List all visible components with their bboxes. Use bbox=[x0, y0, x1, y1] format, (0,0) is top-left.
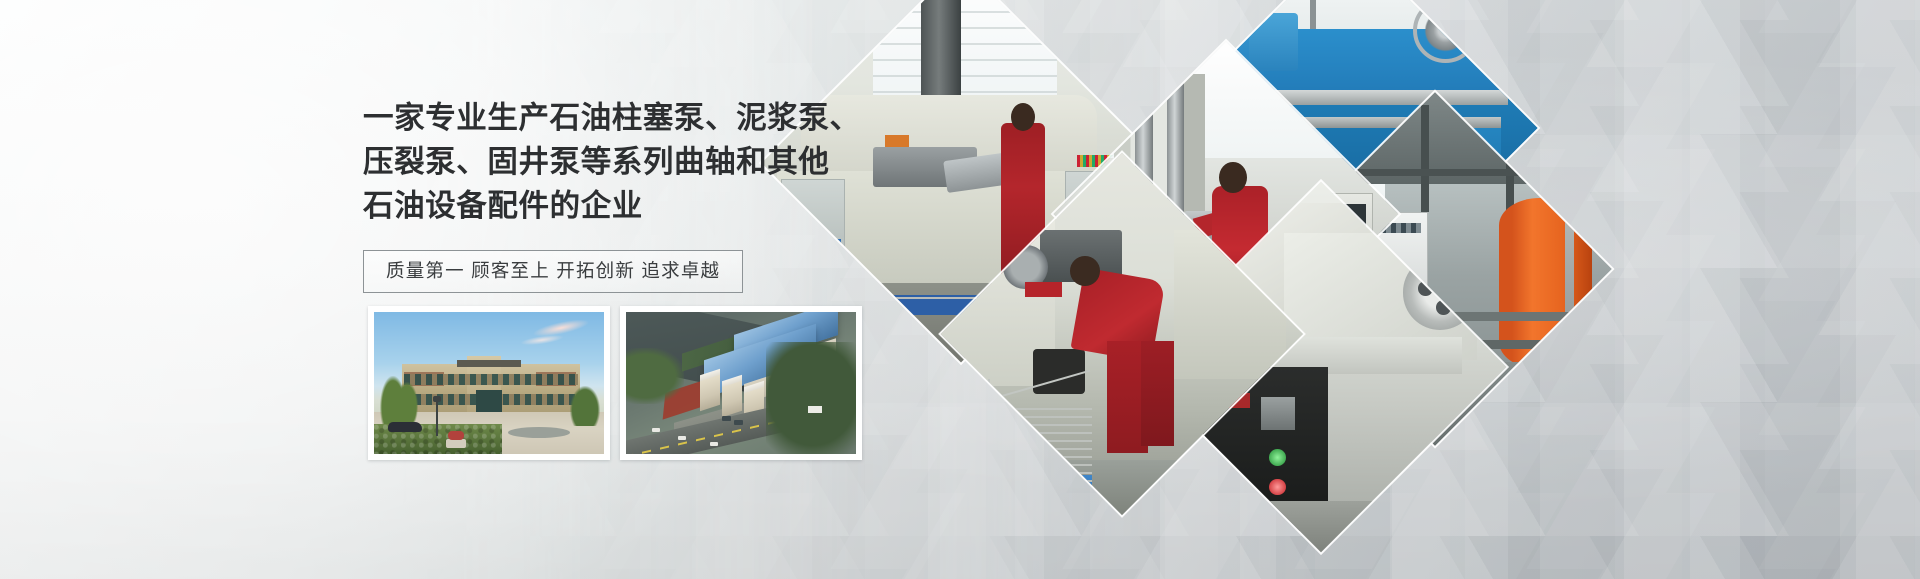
flower-bed bbox=[448, 431, 464, 440]
stair-handrail-post bbox=[988, 379, 990, 476]
tank-support-rod bbox=[1565, 191, 1574, 376]
worker-head bbox=[1219, 162, 1247, 194]
banner-headline: 一家专业生产石油柱塞泵、泥浆泵、 压裂泵、固井泵等系列曲轴和其他 石油设备配件的… bbox=[363, 96, 883, 228]
indicator-light-red bbox=[1269, 479, 1286, 496]
workshop-floor bbox=[1136, 501, 1507, 552]
greenery-left bbox=[626, 348, 684, 404]
yard-car-1 bbox=[722, 416, 731, 421]
building-entrance bbox=[476, 390, 502, 414]
tree-left-2 bbox=[396, 382, 418, 422]
diamond-photo-collage bbox=[842, 36, 1582, 506]
greenery-right bbox=[766, 342, 856, 454]
road-car-2 bbox=[678, 436, 686, 440]
tree-right bbox=[570, 386, 600, 426]
safety-rail bbox=[817, 297, 977, 299]
blue-chip-bin bbox=[988, 475, 1092, 515]
office-building-photo[interactable] bbox=[368, 306, 610, 460]
yard-truck bbox=[808, 406, 822, 413]
banner-copy-block: 一家专业生产石油柱塞泵、泥浆泵、 压裂泵、固井泵等系列曲轴和其他 石油设备配件的… bbox=[363, 96, 883, 293]
hero-banner: 一家专业生产石油柱塞泵、泥浆泵、 压裂泵、固井泵等系列曲轴和其他 石油设备配件的… bbox=[0, 0, 1920, 579]
headline-line-3: 石油设备配件的企业 bbox=[363, 184, 883, 228]
photo-thumbnail-row bbox=[368, 306, 862, 460]
office-block-1 bbox=[700, 375, 720, 411]
parked-car bbox=[388, 422, 422, 432]
crankshaft-workpiece bbox=[1033, 349, 1085, 394]
worker-head bbox=[1070, 256, 1100, 286]
cabinet-display-box bbox=[1261, 397, 1294, 430]
window-row-upper bbox=[404, 374, 578, 385]
headline-line-2: 压裂泵、固井泵等系列曲轴和其他 bbox=[363, 140, 883, 184]
lathe-motor bbox=[1249, 13, 1299, 70]
plaza-fountain bbox=[508, 427, 570, 438]
flower-planter bbox=[446, 439, 466, 448]
worker-head bbox=[1011, 103, 1035, 131]
factory-aerial-photo[interactable] bbox=[620, 306, 862, 460]
road-car-1 bbox=[652, 428, 660, 432]
slogan-text: 质量第一 顾客至上 开拓创新 追求卓越 bbox=[386, 259, 720, 283]
indicator-light-green bbox=[1269, 449, 1286, 466]
office-building-image bbox=[374, 312, 604, 454]
building-roof bbox=[457, 360, 521, 367]
worker-leg-2 bbox=[1141, 341, 1174, 445]
ceiling-beam-1 bbox=[1203, 0, 1211, 40]
factory-aerial-image bbox=[626, 312, 856, 454]
roof-truss-2 bbox=[1421, 105, 1429, 212]
lathe-faceplate bbox=[1413, 0, 1478, 63]
street-lamp bbox=[436, 400, 438, 436]
slogan-badge: 质量第一 顾客至上 开拓创新 追求卓越 bbox=[363, 250, 743, 293]
access-steps bbox=[996, 408, 1093, 490]
machine-column bbox=[921, 0, 961, 107]
headline-line-1: 一家专业生产石油柱塞泵、泥浆泵、 bbox=[363, 96, 883, 140]
yard-car-2 bbox=[734, 420, 743, 425]
cloud-shape-2 bbox=[520, 333, 565, 347]
machine-brand-label bbox=[1025, 282, 1062, 297]
road-car-3 bbox=[710, 442, 718, 446]
